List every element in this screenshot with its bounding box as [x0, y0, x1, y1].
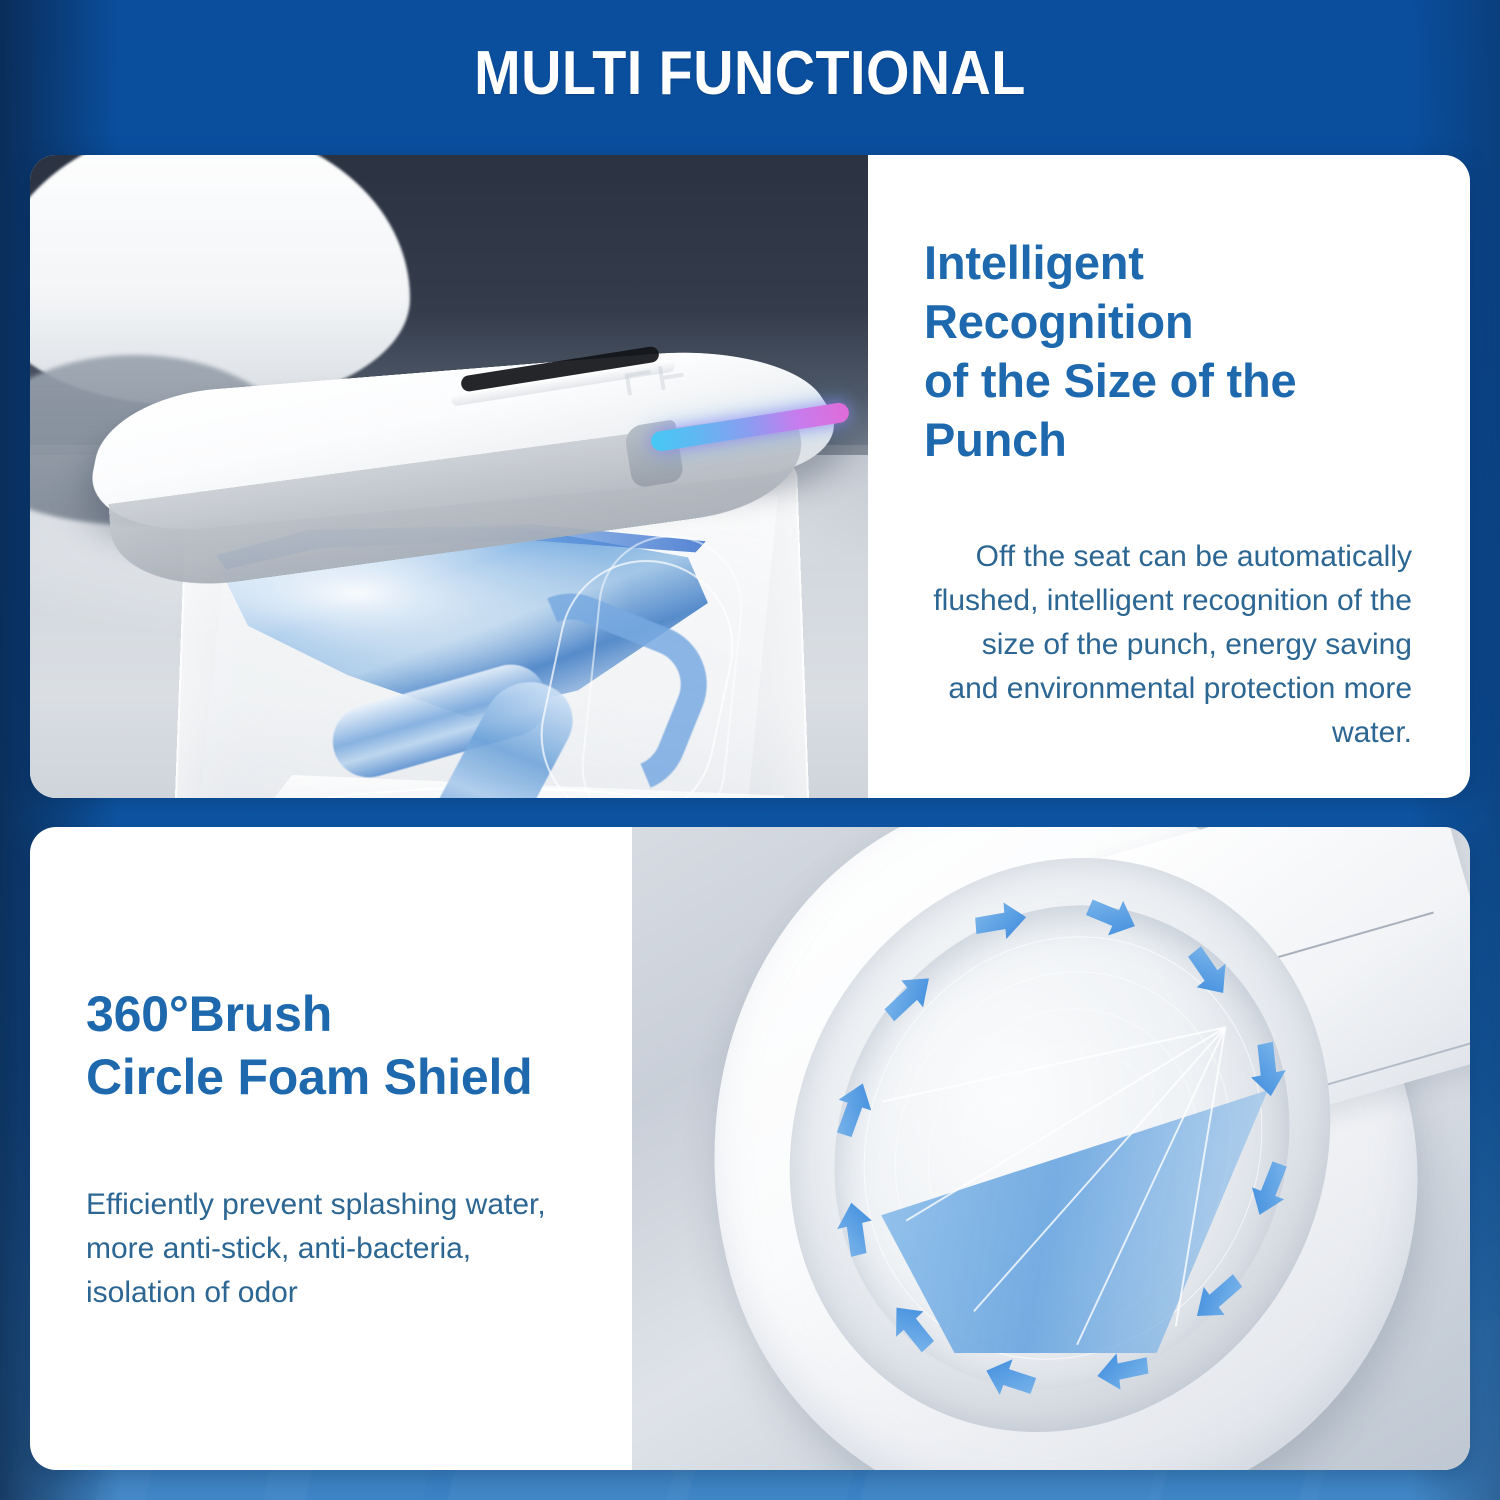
section-heading-line-2: of the Size of the Punch [924, 351, 1412, 469]
section-body-text: Off the seat can be automatically flushe… [924, 535, 1412, 755]
section-heading-line-2: Circle Foam Shield [86, 1046, 592, 1109]
section-body-line-2: more anti-stick, anti-bacteria, [86, 1227, 592, 1271]
product-feature-page: MULTI FUNCTIONAL [0, 0, 1500, 1500]
section-heading-line-1: Intelligent Recognition [924, 233, 1412, 351]
section-body-line-3: isolation of odor [86, 1271, 592, 1315]
page-title: MULTI FUNCTIONAL [75, 38, 1425, 110]
feature-card-intelligent-recognition: Intelligent Recognition of the Size of t… [30, 155, 1470, 798]
section-heading-line-1: 360°Brush [86, 983, 592, 1046]
text-panel-foam-shield: 360°Brush Circle Foam Shield Efficiently… [30, 827, 632, 1470]
text-panel-intelligent-recognition: Intelligent Recognition of the Size of t… [868, 155, 1470, 798]
section-heading: 360°Brush Circle Foam Shield [86, 983, 592, 1109]
section-body-text: Efficiently prevent splashing water, mor… [86, 1183, 592, 1315]
section-heading: Intelligent Recognition of the Size of t… [924, 233, 1412, 469]
cutaway-toilet-image [30, 155, 868, 798]
section-body-line-1: Efficiently prevent splashing water, [86, 1183, 592, 1227]
bowl-topview-image [632, 827, 1470, 1470]
feature-card-foam-shield: 360°Brush Circle Foam Shield Efficiently… [30, 827, 1470, 1470]
